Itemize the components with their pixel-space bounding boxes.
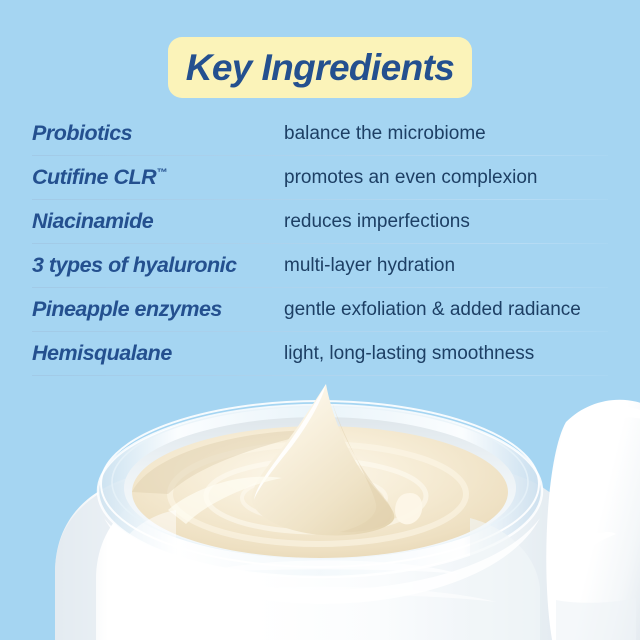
ingredient-description: balance the microbiome xyxy=(284,124,608,143)
ingredient-description: multi-layer hydration xyxy=(284,256,608,275)
table-row: Cutifine CLR™ promotes an even complexio… xyxy=(0,156,640,199)
ingredient-description: reduces imperfections xyxy=(284,212,608,231)
ingredient-name: Niacinamide xyxy=(32,211,284,233)
ingredient-name-text: Cutifine CLR xyxy=(32,165,156,189)
ingredients-table: Probiotics balance the microbiome Cutifi… xyxy=(0,112,640,376)
ingredient-name: Pineapple enzymes xyxy=(32,299,284,321)
ingredient-name: 3 types of hyaluronic xyxy=(32,255,284,277)
table-row: Hemisqualane light, long-lasting smoothn… xyxy=(0,332,640,375)
page-title: Key Ingredients xyxy=(186,49,455,86)
title-badge: Key Ingredients xyxy=(168,37,472,98)
ingredient-description: gentle exfoliation & added radiance xyxy=(284,300,608,319)
row-divider xyxy=(32,375,608,376)
ingredient-description: promotes an even complexion xyxy=(284,168,608,187)
table-row: Pineapple enzymes gentle exfoliation & a… xyxy=(0,288,640,331)
cream-jar-illustration xyxy=(0,368,640,640)
table-row: Niacinamide reduces imperfections xyxy=(0,200,640,243)
ingredient-name: Hemisqualane xyxy=(32,343,284,365)
table-row: Probiotics balance the microbiome xyxy=(0,112,640,155)
ingredient-description: light, long-lasting smoothness xyxy=(284,344,608,363)
ingredient-name: Cutifine CLR™ xyxy=(32,167,284,189)
key-ingredients-poster: Key Ingredients Probiotics balance the m… xyxy=(0,0,640,640)
trademark-icon: ™ xyxy=(156,167,167,179)
product-photo xyxy=(0,368,640,640)
table-row: 3 types of hyaluronic multi-layer hydrat… xyxy=(0,244,640,287)
ingredient-name: Probiotics xyxy=(32,123,284,145)
